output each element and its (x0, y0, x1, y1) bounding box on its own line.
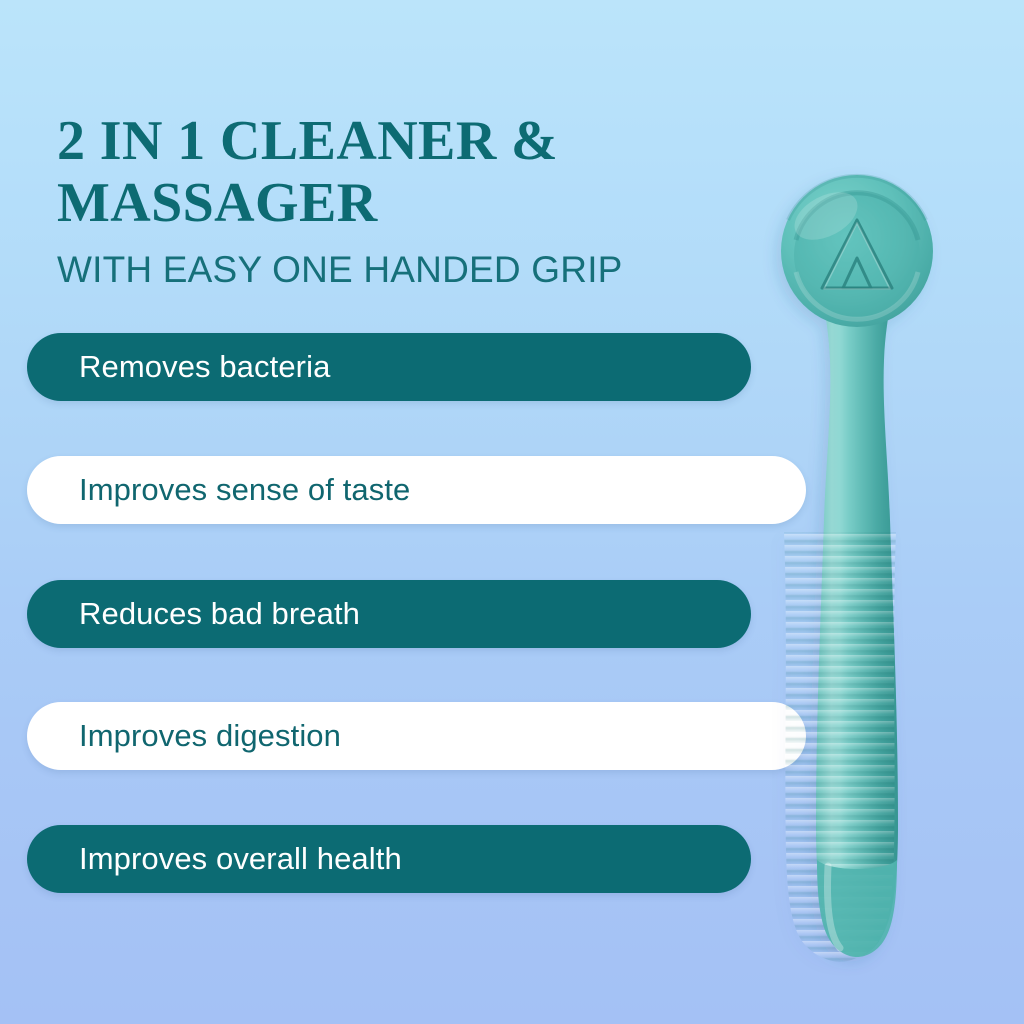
benefit-label: Improves digestion (79, 718, 341, 754)
page-title: 2 IN 1 CLEANER & MASSAGER (57, 110, 697, 234)
benefit-pill: Improves digestion (27, 702, 806, 770)
benefit-pill: Removes bacteria (27, 333, 751, 401)
benefit-label: Improves overall health (79, 841, 402, 877)
product-image (744, 160, 964, 980)
page-subtitle: WITH EASY ONE HANDED GRIP (57, 249, 757, 291)
infographic-canvas: 2 IN 1 CLEANER & MASSAGER WITH EASY ONE … (0, 0, 1024, 1024)
benefit-label: Improves sense of taste (79, 472, 410, 508)
benefit-pill: Improves sense of taste (27, 456, 806, 524)
benefit-pill: Reduces bad breath (27, 580, 751, 648)
benefit-label: Reduces bad breath (79, 596, 360, 632)
benefit-pill: Improves overall health (27, 825, 751, 893)
benefit-label: Removes bacteria (79, 349, 330, 385)
